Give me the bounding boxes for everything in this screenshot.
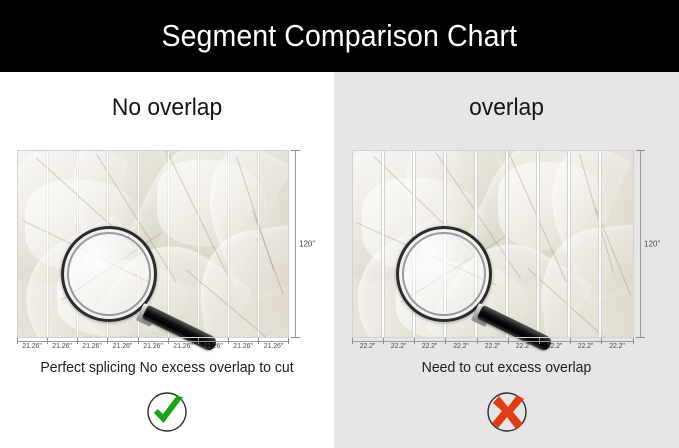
title-bar: Segment Comparison Chart — [0, 0, 679, 72]
segment-label: 21.26" — [138, 343, 168, 350]
page-title: Segment Comparison Chart — [162, 18, 518, 54]
segment-label: 21.26" — [17, 343, 47, 350]
panel-heading-left: No overlap — [8, 94, 325, 122]
segment-label: 22.2" — [570, 343, 601, 350]
segment-label: 22.2" — [352, 343, 383, 350]
segment-label: 21.26" — [258, 343, 289, 350]
chart-root: Segment Comparison Chart No overlap — [0, 0, 679, 448]
segment-label: 22.2" — [508, 343, 539, 350]
height-dimension-left: 120" — [291, 150, 319, 338]
mural-right: 22.2" 22.2" 22.2" 22.2" 22.2" 22.2" 22.2… — [352, 150, 634, 338]
seam-lines-left — [17, 150, 289, 338]
segment-label: 22.2" — [601, 343, 633, 350]
cross-icon — [485, 390, 529, 434]
segment-label: 21.26" — [198, 343, 228, 350]
check-icon — [145, 390, 189, 434]
mural-left: 21.26" 21.26" 21.26" 21.26" 21.26" 21.26… — [17, 150, 289, 338]
panel-no-overlap: No overlap — [0, 72, 334, 448]
panel-heading-right: overlap — [343, 94, 671, 122]
seam-gaps-right — [352, 150, 634, 338]
caption-left: Perfect splicing No excess overlap to cu… — [5, 360, 329, 376]
dimension-row-left: 21.26" 21.26" 21.26" 21.26" 21.26" 21.26… — [17, 338, 289, 356]
segment-label: 22.2" — [477, 343, 508, 350]
segment-label: 22.2" — [445, 343, 477, 350]
segment-label: 22.2" — [383, 343, 414, 350]
segment-label: 22.2" — [414, 343, 445, 350]
caption-right: Need to cut excess overlap — [339, 360, 674, 376]
segment-label: 21.26" — [228, 343, 258, 350]
dimension-row-right: 22.2" 22.2" 22.2" 22.2" 22.2" 22.2" 22.2… — [352, 338, 634, 356]
segment-label: 21.26" — [77, 343, 107, 350]
height-dimension-right: 120" — [636, 150, 664, 338]
height-label: 120" — [299, 240, 315, 249]
panel-overlap: overlap — [334, 72, 679, 448]
height-label: 120" — [644, 240, 660, 249]
segment-label: 21.26" — [47, 343, 77, 350]
segment-label: 21.26" — [107, 343, 138, 350]
segment-label: 22.2" — [539, 343, 570, 350]
segment-label: 21.26" — [168, 343, 198, 350]
